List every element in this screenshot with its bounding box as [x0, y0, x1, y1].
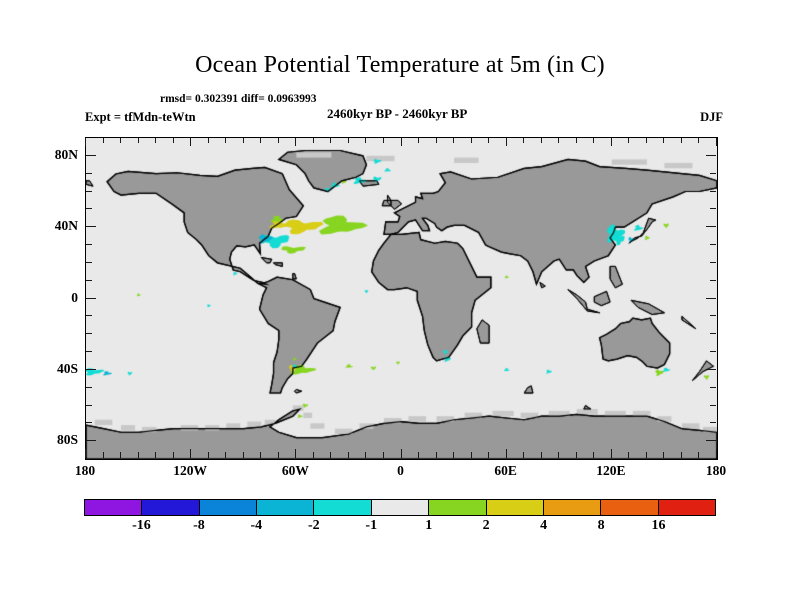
axis-tick	[471, 452, 472, 458]
axis-tick	[710, 208, 716, 209]
x-axis-label: 60W	[282, 463, 309, 479]
map-heatmap-canvas	[86, 138, 717, 459]
colorbar-band-5	[372, 500, 429, 515]
axis-tick	[436, 138, 437, 143]
y-axis-label: 0	[71, 290, 78, 306]
axis-tick	[155, 452, 156, 458]
axis-tick	[86, 369, 96, 370]
axis-tick	[716, 138, 717, 146]
axis-tick	[86, 351, 92, 352]
axis-tick	[710, 387, 716, 388]
axis-tick	[103, 452, 104, 458]
axis-tick	[681, 452, 682, 458]
x-axis-label: 60E	[494, 463, 517, 479]
axis-tick	[541, 138, 542, 143]
axis-tick	[278, 452, 279, 458]
axis-tick	[225, 452, 226, 458]
colorbar	[84, 499, 716, 516]
axis-tick	[138, 452, 139, 458]
axis-tick	[706, 226, 716, 227]
axis-tick	[383, 452, 384, 458]
page-title: Ocean Potential Temperature at 5m (in C)	[0, 52, 800, 79]
axis-tick	[663, 138, 664, 143]
axis-tick	[348, 452, 349, 458]
axis-tick	[86, 173, 92, 174]
axis-tick	[710, 173, 716, 174]
axis-tick	[86, 422, 92, 423]
colorbar-tick-label: -1	[365, 518, 377, 534]
x-axis-label: 120W	[173, 463, 207, 479]
colorbar-band-1	[142, 500, 199, 515]
axis-tick	[488, 138, 489, 143]
axis-tick	[706, 155, 716, 156]
colorbar-tick-label: -2	[308, 518, 320, 534]
axis-tick	[208, 452, 209, 458]
axis-tick	[418, 452, 419, 458]
axis-tick	[86, 440, 96, 441]
axis-tick	[506, 449, 507, 458]
axis-tick	[401, 138, 402, 146]
axis-tick	[488, 452, 489, 458]
axis-tick	[558, 138, 559, 143]
axis-tick	[710, 315, 716, 316]
colorbar-band-0	[85, 500, 142, 515]
experiment-annotation: Expt = tfMdn-teWtn	[85, 110, 196, 125]
x-axis-label: 180	[706, 463, 726, 479]
axis-tick	[401, 449, 402, 458]
axis-tick	[383, 138, 384, 143]
colorbar-tick-label: 1	[425, 518, 432, 534]
axis-tick	[85, 449, 86, 458]
map-plot-area	[85, 137, 718, 460]
axis-tick	[710, 405, 716, 406]
axis-tick	[710, 262, 716, 263]
axis-tick	[120, 138, 121, 143]
axis-tick	[86, 315, 92, 316]
colorbar-tick-label: 4	[540, 518, 547, 534]
axis-tick	[86, 155, 96, 156]
axis-tick	[706, 369, 716, 370]
axis-tick	[313, 452, 314, 458]
axis-tick	[313, 138, 314, 143]
axis-tick	[295, 449, 296, 458]
axis-tick	[593, 452, 594, 458]
axis-tick	[173, 452, 174, 458]
colorbar-band-10	[659, 500, 715, 515]
colorbar-tick-label: -16	[132, 518, 151, 534]
colorbar-band-2	[200, 500, 257, 515]
axis-tick	[365, 452, 366, 458]
colorbar-band-3	[257, 500, 314, 515]
axis-tick	[646, 452, 647, 458]
axis-tick	[706, 440, 716, 441]
axis-tick	[471, 138, 472, 143]
axis-tick	[85, 138, 86, 146]
axis-tick	[260, 452, 261, 458]
axis-tick	[698, 138, 699, 143]
colorbar-band-4	[314, 500, 371, 515]
axis-tick	[295, 138, 296, 146]
axis-tick	[190, 449, 191, 458]
y-axis-label: 40S	[57, 361, 78, 377]
colorbar-band-7	[487, 500, 544, 515]
axis-tick	[365, 138, 366, 143]
axis-tick	[523, 138, 524, 143]
axis-tick	[190, 138, 191, 146]
axis-tick	[86, 280, 92, 281]
colorbar-tick-label: 8	[598, 518, 605, 534]
axis-tick	[453, 452, 454, 458]
colorbar-band-9	[601, 500, 658, 515]
colorbar-tick-label: 16	[652, 518, 666, 534]
axis-tick	[698, 452, 699, 458]
statistics-annotation: rmsd= 0.302391 diff= 0.0963993	[160, 93, 317, 105]
axis-tick	[330, 138, 331, 143]
axis-tick	[558, 452, 559, 458]
axis-tick	[86, 208, 92, 209]
period-annotation: 2460kyr BP - 2460kyr BP	[327, 106, 467, 122]
axis-tick	[681, 138, 682, 143]
axis-tick	[243, 138, 244, 143]
axis-tick	[86, 387, 92, 388]
y-axis-label: 80N	[55, 147, 78, 163]
axis-tick	[86, 333, 92, 334]
axis-tick	[646, 138, 647, 143]
axis-tick	[576, 138, 577, 143]
axis-tick	[225, 138, 226, 143]
axis-tick	[330, 452, 331, 458]
season-annotation: DJF	[700, 110, 723, 125]
axis-tick	[710, 191, 716, 192]
axis-tick	[506, 138, 507, 146]
axis-tick	[436, 452, 437, 458]
axis-tick	[243, 452, 244, 458]
axis-tick	[138, 138, 139, 143]
axis-tick	[348, 138, 349, 143]
axis-tick	[86, 298, 96, 299]
axis-tick	[86, 244, 92, 245]
axis-tick	[611, 449, 612, 458]
colorbar-tick-label: 2	[483, 518, 490, 534]
x-axis-label: 120E	[596, 463, 625, 479]
y-axis-label: 80S	[57, 432, 78, 448]
axis-tick	[120, 452, 121, 458]
axis-tick	[453, 138, 454, 143]
axis-tick	[260, 138, 261, 143]
axis-tick	[173, 138, 174, 143]
colorbar-tick-label: -4	[251, 518, 263, 534]
axis-tick	[278, 138, 279, 143]
axis-tick	[523, 452, 524, 458]
axis-tick	[103, 138, 104, 143]
axis-tick	[628, 138, 629, 143]
x-axis-label: 180	[75, 463, 95, 479]
axis-tick	[716, 449, 717, 458]
colorbar-tick-label: -8	[193, 518, 205, 534]
colorbar-band-6	[429, 500, 486, 515]
axis-tick	[710, 422, 716, 423]
y-axis-label: 40N	[55, 218, 78, 234]
axis-tick	[593, 138, 594, 143]
colorbar-band-8	[544, 500, 601, 515]
axis-tick	[86, 262, 92, 263]
axis-tick	[86, 226, 96, 227]
axis-tick	[576, 452, 577, 458]
axis-tick	[710, 351, 716, 352]
axis-tick	[418, 138, 419, 143]
axis-tick	[710, 244, 716, 245]
axis-tick	[663, 452, 664, 458]
axis-tick	[86, 405, 92, 406]
axis-tick	[155, 138, 156, 143]
axis-tick	[710, 280, 716, 281]
axis-tick	[706, 298, 716, 299]
axis-tick	[710, 333, 716, 334]
axis-tick	[86, 191, 92, 192]
x-axis-label: 0	[397, 463, 404, 479]
axis-tick	[208, 138, 209, 143]
axis-tick	[611, 138, 612, 146]
axis-tick	[628, 452, 629, 458]
axis-tick	[541, 452, 542, 458]
